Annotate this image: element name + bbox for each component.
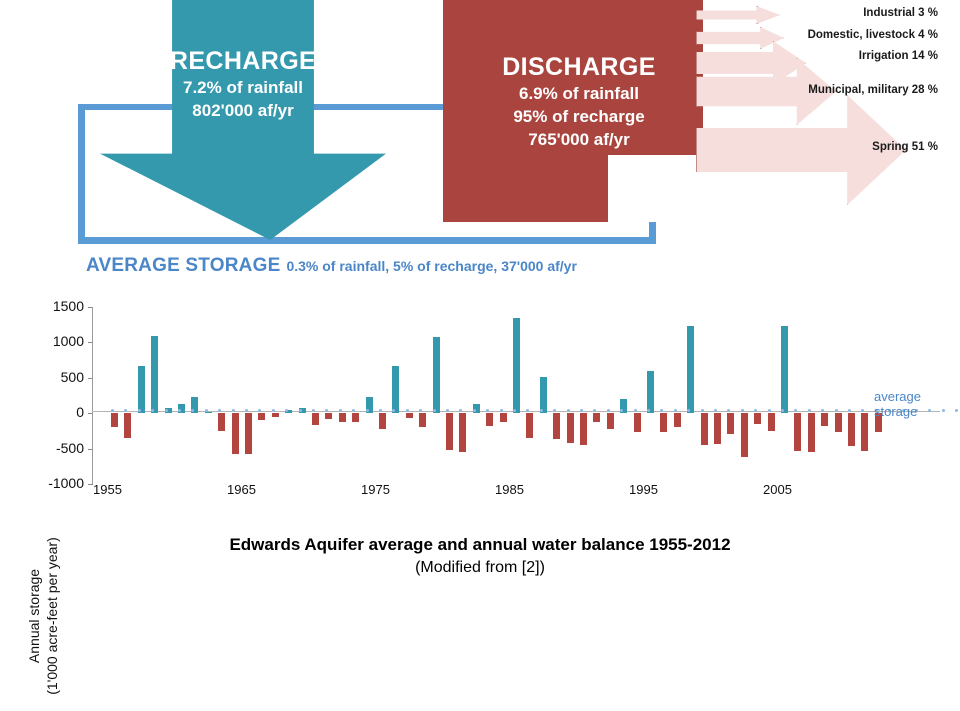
chart-bar bbox=[406, 413, 413, 418]
average-storage-caption: AVERAGE STORAGE0.3% of rainfall, 5% of r… bbox=[86, 255, 577, 277]
chart-bar bbox=[352, 413, 359, 421]
x-tick-label: 1995 bbox=[629, 482, 658, 497]
average-storage-dot bbox=[272, 409, 275, 412]
y-tick-label: 500 bbox=[30, 369, 84, 385]
discharge-notch bbox=[608, 155, 703, 222]
annual-storage-chart: Annual storage (1'000 acre-feet per year… bbox=[0, 293, 960, 533]
chart-bar bbox=[111, 413, 118, 427]
chart-bar bbox=[540, 377, 547, 413]
chart-bar bbox=[419, 413, 426, 427]
chart-bar bbox=[272, 413, 279, 417]
chart-bar bbox=[754, 413, 761, 424]
chart-bar bbox=[232, 413, 239, 454]
average-storage-title: AVERAGE STORAGE bbox=[86, 255, 280, 276]
chart-bar bbox=[312, 413, 319, 425]
chart-bar bbox=[714, 413, 721, 443]
y-tick-label: 1000 bbox=[30, 333, 84, 349]
chart-bar bbox=[325, 413, 332, 419]
average-storage-dot bbox=[701, 409, 704, 412]
average-storage-dot bbox=[768, 409, 771, 412]
caption-line-2: (Modified from [2]) bbox=[0, 557, 960, 579]
x-tick-label: 1965 bbox=[227, 482, 256, 497]
average-storage-dot bbox=[205, 409, 208, 412]
chart-bar bbox=[245, 413, 252, 453]
chart-bar bbox=[567, 413, 574, 443]
average-storage-dot bbox=[138, 409, 141, 412]
outflow-arrow-industrial bbox=[696, 6, 780, 24]
average-storage-dot bbox=[835, 409, 838, 412]
chart-bar bbox=[553, 413, 560, 438]
average-storage-dot bbox=[808, 409, 811, 412]
average-storage-dot bbox=[567, 409, 570, 412]
chart-bar bbox=[607, 413, 614, 429]
average-storage-dot bbox=[165, 409, 168, 412]
chart-bar bbox=[701, 413, 708, 445]
chart-bar bbox=[593, 413, 600, 421]
average-storage-dot bbox=[232, 409, 235, 412]
outflow-label-irrigation: Irrigation 14 % bbox=[790, 50, 938, 62]
chart-bar bbox=[258, 413, 265, 419]
chart-bar bbox=[848, 413, 855, 446]
y-tick-label: 1500 bbox=[30, 298, 84, 314]
y-tick-label: -1000 bbox=[30, 475, 84, 491]
average-storage-dot bbox=[473, 409, 476, 412]
chart-bar bbox=[660, 413, 667, 432]
chart-bar bbox=[861, 413, 868, 451]
chart-bar bbox=[687, 326, 694, 413]
chart-bar bbox=[835, 413, 842, 431]
figure-root: RECHARGE 7.2% of rainfall 802'000 af/yr … bbox=[0, 0, 960, 601]
chart-bar bbox=[727, 413, 734, 434]
average-storage-dot bbox=[406, 409, 409, 412]
average-storage-dot bbox=[540, 409, 543, 412]
average-storage-dot bbox=[339, 409, 342, 412]
average-storage-dot bbox=[955, 409, 958, 412]
chart-bar bbox=[674, 413, 681, 426]
average-storage-detail: 0.3% of rainfall, 5% of recharge, 37'000… bbox=[286, 258, 576, 274]
chart-bar bbox=[124, 413, 131, 438]
chart-bar bbox=[513, 318, 520, 414]
figure-caption: Edwards Aquifer average and annual water… bbox=[0, 533, 960, 579]
average-storage-dot bbox=[674, 409, 677, 412]
average-storage-dot bbox=[607, 409, 610, 412]
chart-bar bbox=[379, 413, 386, 429]
y-tick-label: 0 bbox=[30, 404, 84, 420]
average-storage-dot bbox=[366, 409, 369, 412]
chart-bar bbox=[138, 366, 145, 413]
legend-line-2: storage bbox=[874, 404, 954, 419]
chart-bar bbox=[446, 413, 453, 450]
chart-bar bbox=[500, 413, 507, 421]
outflow-label-industrial: Industrial 3 % bbox=[790, 7, 938, 19]
chart-bar bbox=[647, 371, 654, 413]
chart-bar bbox=[151, 336, 158, 414]
chart-bar bbox=[741, 413, 748, 457]
average-storage-dot bbox=[433, 409, 436, 412]
chart-bar bbox=[634, 413, 641, 431]
chart-bar bbox=[339, 413, 346, 421]
x-tick-label: 1985 bbox=[495, 482, 524, 497]
legend-average-storage: average storage bbox=[874, 389, 954, 419]
legend-line-1: average bbox=[874, 389, 954, 404]
plot-area bbox=[99, 307, 940, 484]
x-tick-label: 1955 bbox=[93, 482, 122, 497]
chart-bar bbox=[433, 337, 440, 413]
outflow-label-municipal: Municipal, military 28 % bbox=[760, 84, 938, 96]
chart-bar bbox=[781, 326, 788, 413]
chart-bar bbox=[459, 413, 466, 452]
chart-bar bbox=[392, 366, 399, 413]
chart-bar bbox=[526, 413, 533, 438]
x-tick-label: 1975 bbox=[361, 482, 390, 497]
chart-bar bbox=[768, 413, 775, 431]
y-tick-label: -500 bbox=[30, 440, 84, 456]
outflow-label-spring: Spring 51 % bbox=[790, 141, 938, 153]
caption-line-1: Edwards Aquifer average and annual water… bbox=[0, 533, 960, 557]
average-storage-dot bbox=[741, 409, 744, 412]
chart-bar bbox=[794, 413, 801, 451]
outflow-label-domestic: Domestic, livestock 4 % bbox=[760, 29, 938, 41]
x-tick-label: 2005 bbox=[763, 482, 792, 497]
average-storage-dot bbox=[500, 409, 503, 412]
average-storage-dot bbox=[299, 409, 302, 412]
chart-bar bbox=[821, 413, 828, 426]
chart-bar bbox=[218, 413, 225, 431]
chart-bar bbox=[486, 413, 493, 426]
y-axis-line bbox=[92, 307, 93, 484]
chart-bar bbox=[580, 413, 587, 445]
water-balance-diagram: RECHARGE 7.2% of rainfall 802'000 af/yr … bbox=[0, 0, 960, 290]
chart-bar bbox=[808, 413, 815, 452]
average-storage-dot bbox=[634, 409, 637, 412]
